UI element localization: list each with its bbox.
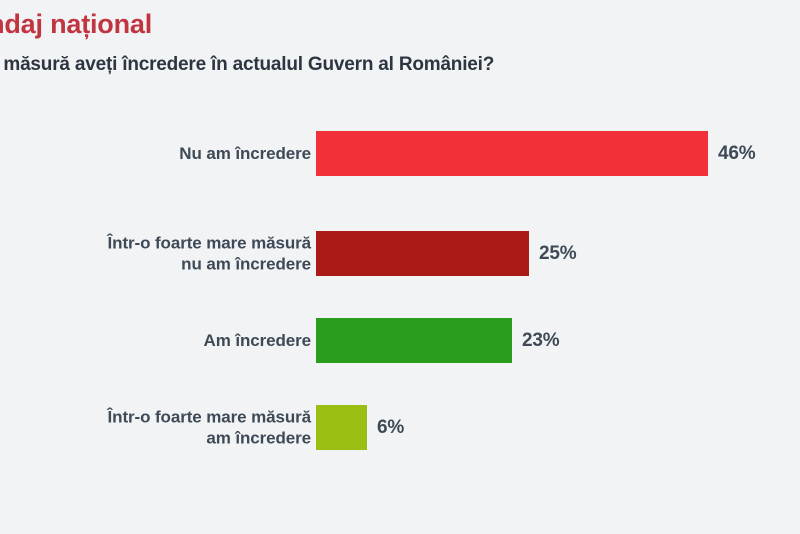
- bar-category-label: Într-o foarte mare măsură nu am încreder…: [108, 232, 311, 276]
- bar-chart: Nu am încredere 46% Într-o foarte mare m…: [0, 112, 800, 472]
- bar-category-label: Într-o foarte mare măsură am încredere: [108, 406, 311, 450]
- bar-fill: [316, 131, 708, 176]
- chart-row: Nu am încredere 46%: [0, 131, 800, 176]
- bar-category-label: Am încredere: [204, 330, 311, 352]
- chart-row: Într-o foarte mare măsură nu am încreder…: [0, 231, 800, 276]
- chart-row: Într-o foarte mare măsură am încredere 6…: [0, 405, 800, 450]
- bar-value-label: 46%: [718, 143, 755, 165]
- bar-fill: [316, 231, 529, 276]
- bar-track: [316, 405, 367, 450]
- bar-category-label: Nu am încredere: [179, 143, 311, 165]
- bar-track: [316, 318, 512, 363]
- bar-fill: [316, 318, 512, 363]
- poll-infographic: Sondaj național În ce măsură aveți încre…: [0, 0, 800, 534]
- bar-fill: [316, 405, 367, 450]
- bar-value-label: 25%: [539, 243, 576, 265]
- bar-value-label: 6%: [377, 417, 404, 439]
- bar-track: [316, 231, 529, 276]
- chart-row: Am încredere 23%: [0, 318, 800, 363]
- page-title: Sondaj național: [0, 9, 152, 40]
- poll-question: În ce măsură aveți încredere în actualul…: [0, 54, 494, 76]
- bar-track: [316, 131, 708, 176]
- bar-value-label: 23%: [522, 330, 559, 352]
